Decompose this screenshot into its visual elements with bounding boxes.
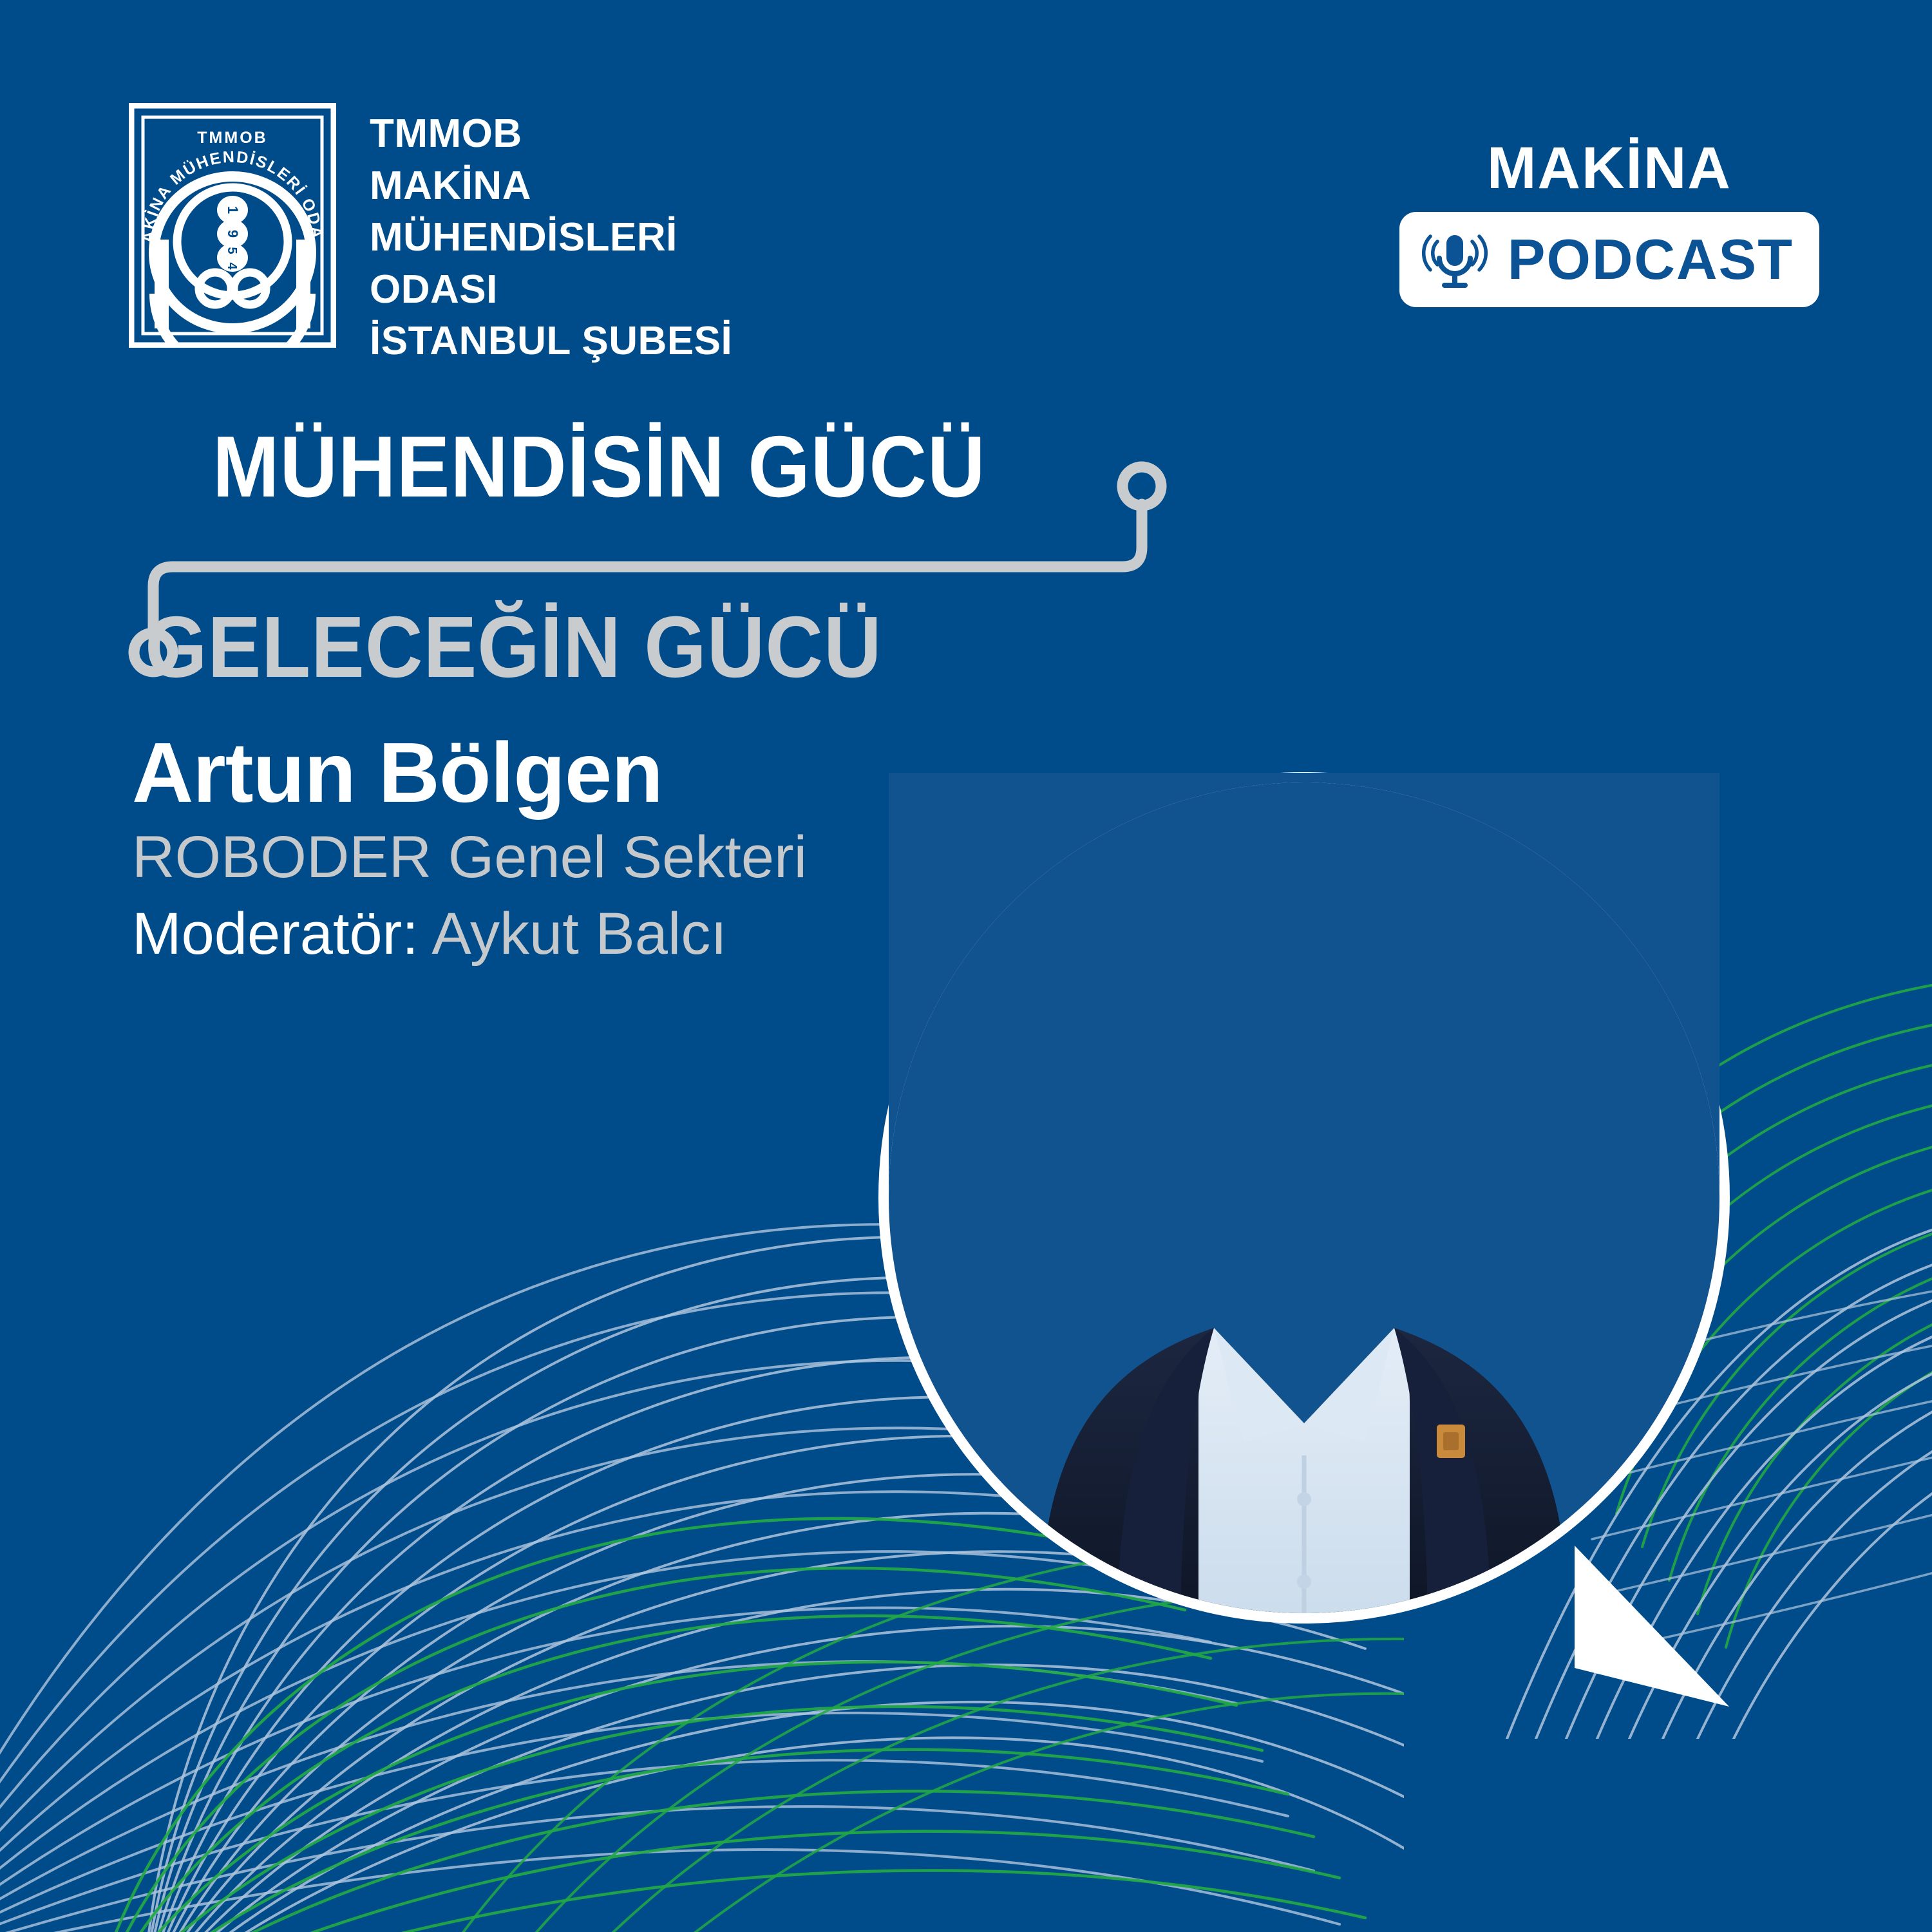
speaker-portrait bbox=[879, 773, 1729, 1623]
moderator-label: Moderatör: bbox=[132, 901, 419, 967]
makina-podcast-badge[interactable]: MAKİNA PODCAST bbox=[1399, 138, 1819, 307]
logo-line-5: İSTANBUL ŞUBESİ bbox=[370, 316, 732, 368]
podcast-pill[interactable]: PODCAST bbox=[1399, 212, 1819, 307]
headline-line-1: MÜHENDİSİN GÜCÜ bbox=[213, 423, 986, 510]
svg-text:9: 9 bbox=[225, 230, 241, 238]
logo-line-3: MÜHENDİSLERİ bbox=[370, 212, 732, 264]
podcast-label: PODCAST bbox=[1508, 231, 1794, 288]
tmmob-logo-block: TMMOB MAKİNA MÜHENDİSLERİ ODASI 1 9 bbox=[129, 103, 732, 368]
svg-text:5: 5 bbox=[225, 247, 239, 254]
headline-line-2: GELECEĞİN GÜCÜ bbox=[145, 603, 882, 690]
podcast-brand-label: MAKİNA bbox=[1399, 138, 1819, 198]
tmmob-emblem-icon: TMMOB MAKİNA MÜHENDİSLERİ ODASI 1 9 bbox=[129, 103, 336, 348]
speaker-photo-bubble bbox=[808, 702, 1839, 1732]
svg-text:TMMOB: TMMOB bbox=[197, 129, 267, 147]
svg-text:1: 1 bbox=[225, 206, 241, 214]
headline-block: MÜHENDİSİN GÜCÜ GELECEĞİN GÜCÜ bbox=[0, 422, 1236, 712]
logo-line-2: MAKİNA bbox=[370, 160, 732, 213]
svg-text:4: 4 bbox=[225, 262, 239, 270]
microphone-icon bbox=[1421, 226, 1488, 293]
logo-line-1: TMMOB bbox=[370, 108, 732, 160]
speaker-portrait-clip bbox=[879, 773, 1729, 1623]
tmmob-logo-text: TMMOB MAKİNA MÜHENDİSLERİ ODASI İSTANBUL… bbox=[370, 103, 732, 368]
moderator-name: Aykut Balcı bbox=[419, 901, 727, 967]
logo-line-4: ODASI bbox=[370, 264, 732, 316]
podcast-promo-poster: TMMOB MAKİNA MÜHENDİSLERİ ODASI 1 9 bbox=[0, 0, 1932, 1932]
